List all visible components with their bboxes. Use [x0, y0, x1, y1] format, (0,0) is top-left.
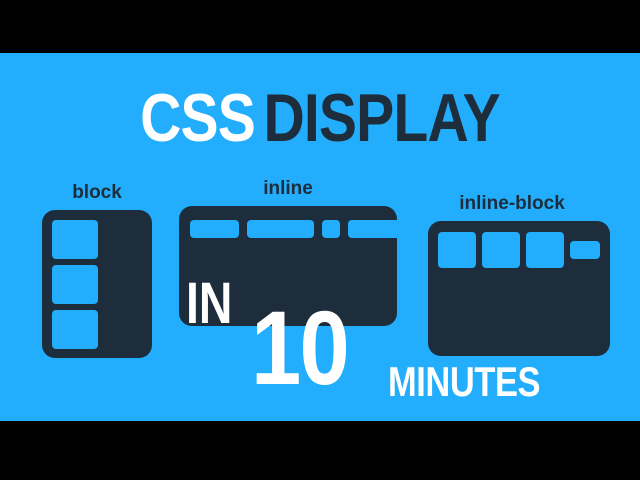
diagram-block: block [22, 182, 172, 377]
diagram-cell-inline-block-2 [482, 232, 520, 268]
overlay-number-10: 10 [251, 296, 348, 401]
overlay-word-minutes: MINUTES [388, 361, 540, 403]
diagram-container-block [42, 210, 152, 358]
thumbnail-canvas: CSSDISPLAY block inline inline-block [0, 0, 640, 480]
diagram-cell-inline-block-3 [526, 232, 564, 268]
title-word-css: CSS [140, 80, 255, 156]
diagram-cell-block-2 [52, 265, 98, 304]
diagram-label-inline-block: inline-block [412, 193, 612, 215]
title-word-display: DISPLAY [263, 80, 499, 156]
diagram-container-inline-block [428, 221, 610, 356]
diagram-cell-inline-block-1 [438, 232, 476, 268]
diagram-cell-block-1 [52, 220, 98, 259]
overlay-word-in: IN [186, 275, 232, 333]
content-area: CSSDISPLAY block inline inline-block [0, 53, 640, 421]
diagram-label-inline: inline [168, 178, 408, 200]
diagram-label-block: block [22, 182, 172, 204]
diagram-cell-inline-3 [322, 220, 340, 238]
diagram-cell-inline-block-4 [570, 241, 600, 259]
letterbox-bar-top [0, 0, 640, 53]
page-title: CSSDISPLAY [51, 83, 589, 153]
diagram-cell-inline-2 [247, 220, 314, 238]
diagram-cell-inline-1 [190, 220, 239, 238]
letterbox-bar-bottom [0, 421, 640, 480]
diagram-cell-block-3 [52, 310, 98, 349]
